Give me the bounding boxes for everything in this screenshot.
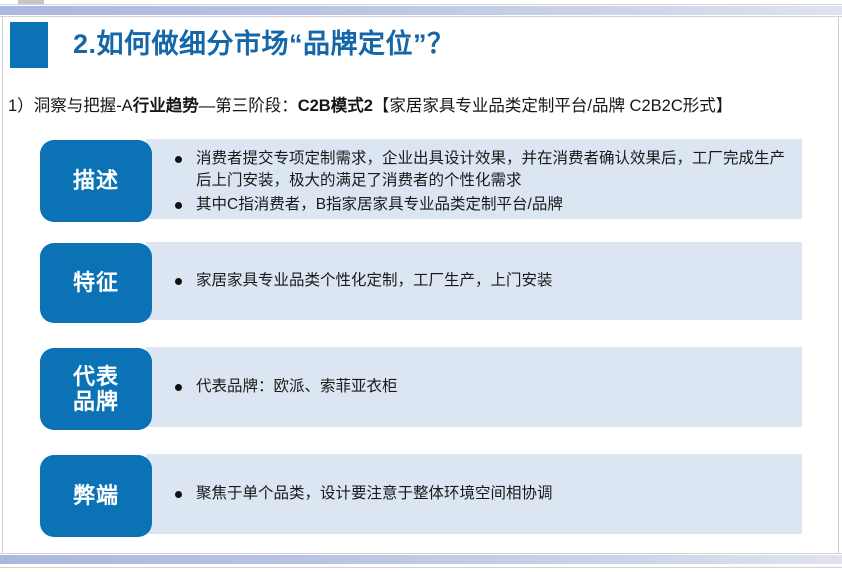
bullet-dot-icon [175,491,182,498]
bullet-list: 家居家具专业品类个性化定制，工厂生产，上门安装 [172,270,792,292]
window-top-hairline [0,4,842,5]
bullet-list: 代表品牌：欧派、索菲亚衣柜 [172,376,792,398]
title-accent-square [10,22,48,68]
bullet-list: 聚焦于单个品类，设计要注意于整体环境空间相协调 [172,483,792,505]
row-label-text: 描述 [73,168,119,193]
row-label-representative-brands: 代表 品牌 [40,348,152,430]
lead-line-number: 1） [8,97,34,115]
content-row: 聚焦于单个品类，设计要注意于整体环境空间相协调 弊端 [0,454,842,538]
content-row-body: 消费者提交专项定制需求，企业出具设计效果，并在消费者确认效果后，工厂完成生产后上… [146,139,802,219]
bullet-dot-icon [175,384,182,391]
list-item: 消费者提交专项定制需求，企业出具设计效果，并在消费者确认效果后，工厂完成生产后上… [172,148,792,193]
lead-line: 1）洞察与把握-A行业趋势—第三阶段：C2B模式2【家居家具专业品类定制平台/品… [8,95,838,117]
page-title: 2.如何做细分市场“品牌定位”？ [73,21,455,67]
list-item-text: 代表品牌：欧派、索菲亚衣柜 [196,378,398,395]
list-item-text: 消费者提交专项定制需求，企业出具设计效果，并在消费者确认效果后，工厂完成生产后上… [196,150,785,189]
list-item: 聚焦于单个品类，设计要注意于整体环境空间相协调 [172,483,792,505]
content-row: 消费者提交专项定制需求，企业出具设计效果，并在消费者确认效果后，工厂完成生产后上… [0,139,842,223]
row-label-description: 描述 [40,140,152,222]
list-item-text: 聚焦于单个品类，设计要注意于整体环境空间相协调 [196,485,553,502]
lead-line-emphasis-1: 行业趋势 [133,97,199,115]
content-row-body: 代表品牌：欧派、索菲亚衣柜 [146,347,802,427]
list-item-text: 家居家具专业品类个性化定制，工厂生产，上门安装 [196,272,553,289]
window-bottom-hairline-2 [0,567,842,568]
window-top-hairline-2 [0,16,842,17]
bullet-dot-icon [175,202,182,209]
bullet-dot-icon [175,156,182,163]
row-label-features: 特征 [40,243,152,323]
slide-canvas: 2.如何做细分市场“品牌定位”？ 1）洞察与把握-A行业趋势—第三阶段：C2B模… [0,0,842,572]
row-label-drawbacks: 弊端 [40,455,152,537]
content-row: 家居家具专业品类个性化定制，工厂生产，上门安装 特征 [0,242,842,324]
lead-line-part-1: 洞察与把握-A [34,97,133,115]
list-item: 家居家具专业品类个性化定制，工厂生产，上门安装 [172,270,792,292]
list-item-text: 其中C指消费者，B指家居家具专业品类定制平台/品牌 [196,196,563,213]
bullet-dot-icon [175,278,182,285]
row-label-text: 代表 品牌 [73,364,119,415]
lead-line-emphasis-2: C2B模式2 [298,97,373,115]
window-bottom-hairline [0,553,842,554]
list-item: 其中C指消费者，B指家居家具专业品类定制平台/品牌 [172,194,792,216]
lead-line-part-2: —第三阶段： [199,97,298,115]
bullet-list: 消费者提交专项定制需求，企业出具设计效果，并在消费者确认效果后，工厂完成生产后上… [172,148,792,216]
window-top-band [0,6,842,15]
content-row-body: 家居家具专业品类个性化定制，工厂生产，上门安装 [146,242,802,320]
content-row-body: 聚焦于单个品类，设计要注意于整体环境空间相协调 [146,454,802,534]
row-label-text: 特征 [73,270,119,295]
lead-line-part-3: 【家居家具专业品类定制平台/品牌 C2B2C形式】 [373,97,732,115]
window-bottom-band [0,555,842,564]
slide-title-row: 2.如何做细分市场“品牌定位”？ [0,22,842,70]
list-item: 代表品牌：欧派、索菲亚衣柜 [172,376,792,398]
content-row: 代表品牌：欧派、索菲亚衣柜 代表 品牌 [0,347,842,431]
row-label-text: 弊端 [73,483,119,508]
